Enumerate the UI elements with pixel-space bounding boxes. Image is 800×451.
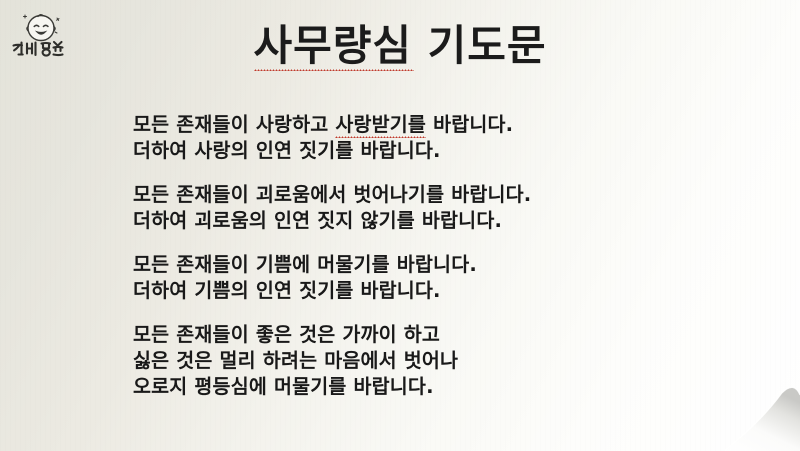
prayer-line: 더하여 괴로움의 인연 짓지 않기를 바랍니다. <box>133 208 693 234</box>
title-marked-part: 사무량심 <box>253 22 412 70</box>
prayer-line-text: 모든 존재들이 괴로움에서 벗어나기를 바랍니다. <box>133 183 531 206</box>
prayer-line-marked-text: 사랑받기를 <box>335 112 426 138</box>
prayer-line-text: 모든 존재들이 사랑하고 <box>133 113 335 136</box>
prayer-line: 오로지 평등심에 머물기를 바랍니다. <box>133 374 693 400</box>
prayer-line-text: 바랍니다. <box>426 113 513 136</box>
slide-canvas: 사무량심 기도문 모든 존재들이 사랑하고 사랑받기를 바랍니다.더하여 사랑의… <box>0 0 800 451</box>
prayer-stanza: 모든 존재들이 사랑하고 사랑받기를 바랍니다.더하여 사랑의 인연 짓기를 바… <box>133 112 693 164</box>
title-rest-part: 기도문 <box>412 21 547 70</box>
prayer-line-text: 더하여 사랑의 인연 짓기를 바랍니다. <box>133 139 441 162</box>
prayer-line-text: 오로지 평등심에 머물기를 바랍니다. <box>133 375 434 398</box>
prayer-line-text: 싫은 것은 멀리 하려는 마음에서 벗어나 <box>133 349 458 372</box>
prayer-line: 더하여 사랑의 인연 짓기를 바랍니다. <box>133 138 693 164</box>
prayer-line: 싫은 것은 멀리 하려는 마음에서 벗어나 <box>133 348 693 374</box>
title-text: 사무량심 기도문 <box>253 22 546 70</box>
prayer-body: 모든 존재들이 사랑하고 사랑받기를 바랍니다.더하여 사랑의 인연 짓기를 바… <box>133 112 693 400</box>
prayer-line-text: 더하여 기쁨의 인연 짓기를 바랍니다. <box>133 279 441 302</box>
prayer-line-text: 모든 존재들이 기쁨에 머물기를 바랍니다. <box>133 253 477 276</box>
prayer-stanza: 모든 존재들이 괴로움에서 벗어나기를 바랍니다.더하여 괴로움의 인연 짓지 … <box>133 182 693 234</box>
prayer-line-text: 모든 존재들이 좋은 것은 가까이 하고 <box>133 323 440 346</box>
prayer-line: 더하여 기쁨의 인연 짓기를 바랍니다. <box>133 278 693 304</box>
page-curl-decoration <box>708 383 800 451</box>
prayer-line: 모든 존재들이 좋은 것은 가까이 하고 <box>133 322 693 348</box>
prayer-line: 모든 존재들이 기쁨에 머물기를 바랍니다. <box>133 252 693 278</box>
prayer-stanza: 모든 존재들이 기쁨에 머물기를 바랍니다.더하여 기쁨의 인연 짓기를 바랍니… <box>133 252 693 304</box>
prayer-line: 모든 존재들이 사랑하고 사랑받기를 바랍니다. <box>133 112 693 138</box>
page-title: 사무량심 기도문 <box>0 22 800 70</box>
prayer-line-text: 더하여 괴로움의 인연 짓지 않기를 바랍니다. <box>133 209 502 232</box>
prayer-stanza: 모든 존재들이 좋은 것은 가까이 하고싫은 것은 멀리 하려는 마음에서 벗어… <box>133 322 693 400</box>
prayer-line: 모든 존재들이 괴로움에서 벗어나기를 바랍니다. <box>133 182 693 208</box>
